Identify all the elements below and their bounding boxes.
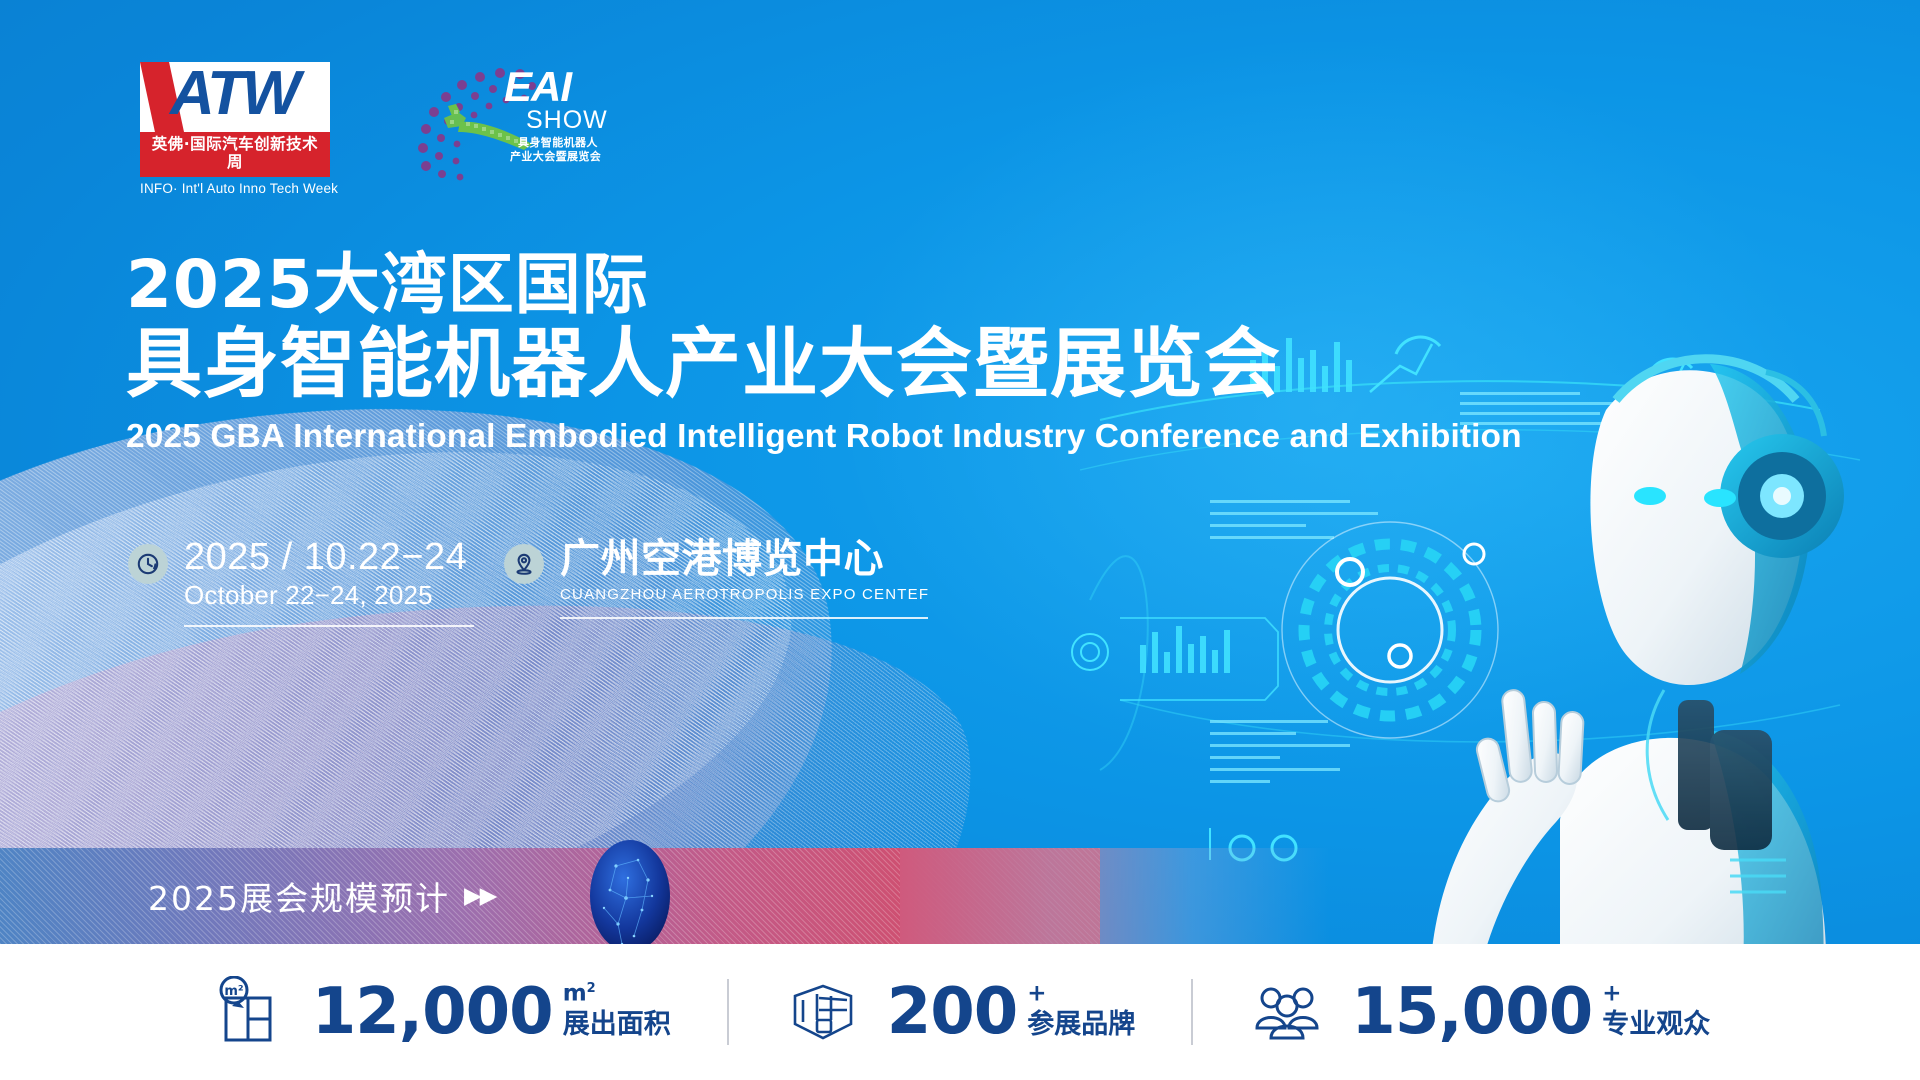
strip-label-text: 2025展会规模预计 [148, 872, 450, 920]
stat-item: 200 + 参展品牌 [729, 976, 1192, 1048]
stat-unit: + [1027, 982, 1046, 1006]
logo-row: ATW 英佛·国际汽车创新技术周 INFO· Int'l Auto Inno T… [140, 62, 623, 196]
event-meta: 2025 / 10.22−24 October 22−24, 2025 广州空港… [128, 538, 929, 627]
stat-text-group: 12,000 m2 展出面积 [312, 982, 671, 1041]
atw-logo[interactable]: ATW 英佛·国际汽车创新技术周 INFO· Int'l Auto Inno T… [140, 62, 330, 196]
strip-fade-tail [900, 848, 1330, 944]
event-date-secondary: October 22−24, 2025 [184, 580, 474, 611]
location-pin-icon [504, 544, 544, 584]
stat-unit: + [1602, 982, 1621, 1006]
exhibition-booth-icon [785, 976, 861, 1048]
eai-logo-show: SHOW [526, 107, 629, 135]
stats-bar: m² 12,000 m2 展出面积 200 [0, 944, 1920, 1080]
headline-block: 2025大湾区国际 具身智能机器人产业大会暨展览会 2025 GBA Inter… [126, 250, 1466, 456]
stat-label: 参展品牌 [1027, 1010, 1135, 1040]
atw-logo-band-cn: 英佛·国际汽车创新技术周 [140, 132, 330, 177]
headline-line-1: 2025大湾区国际 [126, 250, 1466, 319]
eai-logo-main: EAI [504, 68, 629, 107]
event-date-primary: 2025 / 10.22−24 [184, 538, 474, 578]
stat-side-group: m2 展出面积 [563, 982, 671, 1041]
stat-value: 12,000 [312, 983, 553, 1042]
eai-logo-cn-line1: 具身智能机器人 [518, 136, 629, 150]
stat-side-group: + 专业观众 [1602, 982, 1710, 1041]
event-date: 2025 / 10.22−24 October 22−24, 2025 [128, 538, 474, 627]
atw-logo-subtitle-en: INFO· Int'l Auto Inno Tech Week [140, 181, 330, 196]
svg-text:m²: m² [224, 984, 243, 999]
eai-logo-cn-line2: 产业大会暨展览会 [510, 150, 629, 164]
stat-side-group: + 参展品牌 [1027, 982, 1135, 1041]
event-venue-secondary: CUANGZHOU AEROTROPOLIS EXPO CENTEF [560, 586, 929, 603]
double-chevron-right-icon: ▶▶ [464, 883, 495, 909]
stat-unit: m2 [563, 982, 596, 1006]
scale-banner-strip: 2025展会规模预计 ▶▶ [0, 848, 1100, 944]
floorplan-area-icon: m² [210, 976, 286, 1048]
stat-text-group: 15,000 + 专业观众 [1351, 982, 1710, 1041]
stat-label: 专业观众 [1602, 1010, 1710, 1040]
event-venue-primary: 广州空港博览中心 [560, 538, 929, 580]
stat-item: 15,000 + 专业观众 [1193, 976, 1766, 1048]
stat-text-group: 200 + 参展品牌 [887, 982, 1136, 1041]
event-date-underline [184, 625, 474, 627]
stat-item: m² 12,000 m2 展出面积 [154, 976, 727, 1048]
event-venue: 广州空港博览中心 CUANGZHOU AEROTROPOLIS EXPO CEN… [504, 538, 929, 619]
network-globe-icon [582, 832, 678, 960]
banner-poster: ATW 英佛·国际汽车创新技术周 INFO· Int'l Auto Inno T… [0, 0, 1920, 1080]
atw-logo-mark: ATW [140, 62, 330, 132]
event-venue-underline [560, 617, 928, 619]
headline-line-2: 具身智能机器人产业大会暨展览会 [126, 321, 1466, 406]
strip-label-group: 2025展会规模预计 ▶▶ [148, 872, 495, 920]
clock-icon [128, 544, 168, 584]
stat-value: 200 [887, 983, 1018, 1042]
atw-logo-letters: ATW [170, 62, 330, 130]
eai-show-logo[interactable]: EAI SHOW 具身智能机器人 产业大会暨展览会 [408, 62, 623, 187]
stat-label: 展出面积 [563, 1010, 671, 1040]
eai-logo-text: EAI SHOW 具身智能机器人 产业大会暨展览会 [504, 68, 629, 164]
stat-value: 15,000 [1351, 983, 1592, 1042]
visitors-group-icon [1249, 976, 1325, 1048]
headline-english: 2025 GBA International Embodied Intellig… [126, 418, 1466, 456]
